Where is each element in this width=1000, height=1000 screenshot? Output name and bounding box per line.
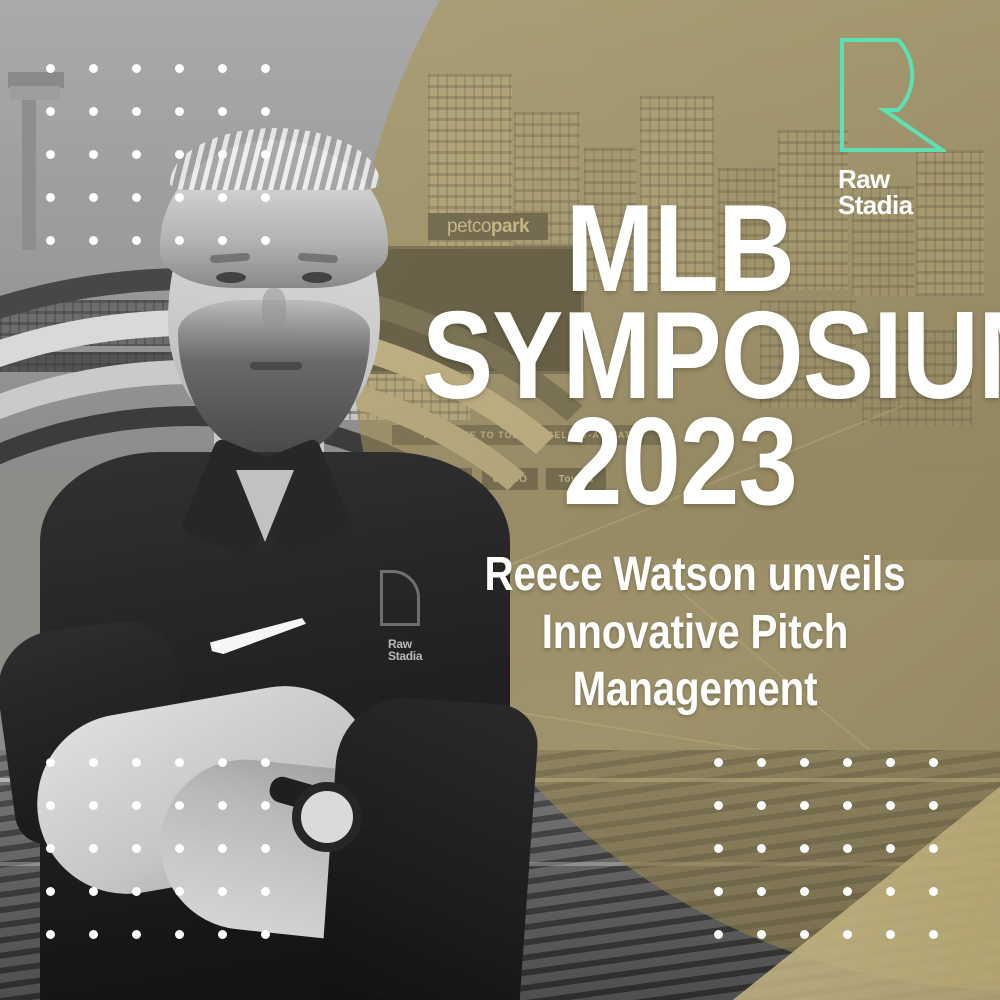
dot bbox=[132, 844, 141, 853]
dot bbox=[261, 150, 270, 159]
dot bbox=[757, 844, 766, 853]
headline-line-3: 2023 bbox=[422, 409, 938, 516]
dot bbox=[757, 801, 766, 810]
dot bbox=[843, 930, 852, 939]
dot bbox=[218, 107, 227, 116]
nose bbox=[262, 288, 286, 332]
dot bbox=[46, 193, 55, 202]
dot bbox=[261, 236, 270, 245]
dot bbox=[132, 150, 141, 159]
dot bbox=[89, 887, 98, 896]
dot bbox=[46, 801, 55, 810]
dot bbox=[89, 801, 98, 810]
dot bbox=[89, 150, 98, 159]
dot bbox=[714, 801, 723, 810]
dot bbox=[218, 64, 227, 73]
dot bbox=[132, 64, 141, 73]
dot bbox=[89, 107, 98, 116]
dot bbox=[218, 758, 227, 767]
dot bbox=[843, 801, 852, 810]
dot bbox=[132, 193, 141, 202]
dot bbox=[800, 887, 809, 896]
dot bbox=[929, 844, 938, 853]
dot bbox=[714, 844, 723, 853]
dot bbox=[175, 193, 184, 202]
dot bbox=[261, 887, 270, 896]
dot bbox=[89, 844, 98, 853]
dot bbox=[175, 887, 184, 896]
dot bbox=[132, 887, 141, 896]
dot bbox=[175, 107, 184, 116]
dot bbox=[89, 193, 98, 202]
dot bbox=[714, 758, 723, 767]
dot bbox=[929, 758, 938, 767]
dot bbox=[46, 236, 55, 245]
dot bbox=[89, 236, 98, 245]
dot bbox=[800, 801, 809, 810]
dot bbox=[175, 930, 184, 939]
dot bbox=[261, 758, 270, 767]
dot bbox=[757, 887, 766, 896]
subtitle-line-1: Reece Watson unveils bbox=[472, 546, 917, 604]
dot bbox=[175, 64, 184, 73]
dot bbox=[800, 844, 809, 853]
dot bbox=[714, 887, 723, 896]
dot bbox=[843, 887, 852, 896]
subtitle-line-3: Management bbox=[472, 661, 917, 719]
dot bbox=[929, 930, 938, 939]
dot-grid-bottom-left bbox=[46, 758, 270, 939]
dot bbox=[175, 844, 184, 853]
dot bbox=[218, 801, 227, 810]
dot bbox=[886, 887, 895, 896]
dot-grid-top-left bbox=[46, 64, 270, 245]
dot bbox=[175, 801, 184, 810]
brand-logo: Raw Stadia bbox=[838, 36, 968, 218]
dot bbox=[46, 64, 55, 73]
dot bbox=[132, 930, 141, 939]
dot bbox=[929, 801, 938, 810]
dot bbox=[175, 236, 184, 245]
dot bbox=[800, 758, 809, 767]
dot bbox=[46, 107, 55, 116]
mouth bbox=[250, 362, 302, 370]
shirt-logo-text: Raw Stadia bbox=[388, 638, 422, 662]
dot bbox=[46, 887, 55, 896]
subtitle-block: Reece Watson unveils Innovative Pitch Ma… bbox=[430, 546, 960, 719]
brand-name-line1: Raw bbox=[838, 166, 968, 192]
r-monogram-icon bbox=[838, 36, 946, 154]
dot bbox=[261, 930, 270, 939]
dot bbox=[929, 887, 938, 896]
poster-canvas: petcopark WELCOME TO TODAY'S SELECT-A-SE… bbox=[0, 0, 1000, 1000]
dot bbox=[132, 236, 141, 245]
eye-right bbox=[302, 272, 332, 283]
dot bbox=[886, 801, 895, 810]
dot bbox=[132, 107, 141, 116]
dot bbox=[714, 930, 723, 939]
dot bbox=[886, 930, 895, 939]
dot bbox=[261, 844, 270, 853]
dot bbox=[757, 758, 766, 767]
dot bbox=[46, 930, 55, 939]
dot bbox=[218, 930, 227, 939]
dot bbox=[46, 150, 55, 159]
dot bbox=[800, 930, 809, 939]
dot bbox=[261, 107, 270, 116]
dot bbox=[89, 758, 98, 767]
dot bbox=[886, 844, 895, 853]
dot bbox=[886, 758, 895, 767]
headline-block: MLB SYMPOSIUM 2023 bbox=[380, 196, 980, 516]
dot bbox=[261, 64, 270, 73]
dot-grid-bottom-right bbox=[714, 758, 938, 939]
dot bbox=[218, 193, 227, 202]
dot bbox=[89, 930, 98, 939]
dot bbox=[843, 758, 852, 767]
dot bbox=[261, 193, 270, 202]
dot bbox=[218, 236, 227, 245]
dot bbox=[757, 930, 766, 939]
wristwatch bbox=[292, 782, 362, 852]
dot bbox=[46, 844, 55, 853]
dot bbox=[175, 150, 184, 159]
dot bbox=[843, 844, 852, 853]
dot bbox=[132, 758, 141, 767]
subtitle-line-2: Innovative Pitch bbox=[472, 604, 917, 662]
dot bbox=[218, 150, 227, 159]
dot bbox=[132, 801, 141, 810]
dot bbox=[218, 887, 227, 896]
dot bbox=[46, 758, 55, 767]
dot bbox=[261, 801, 270, 810]
dot bbox=[175, 758, 184, 767]
sleeve-right bbox=[320, 693, 540, 1000]
shirt-logo-line2: Stadia bbox=[388, 650, 422, 662]
dot bbox=[218, 844, 227, 853]
dot bbox=[89, 64, 98, 73]
eye-left bbox=[216, 272, 246, 283]
